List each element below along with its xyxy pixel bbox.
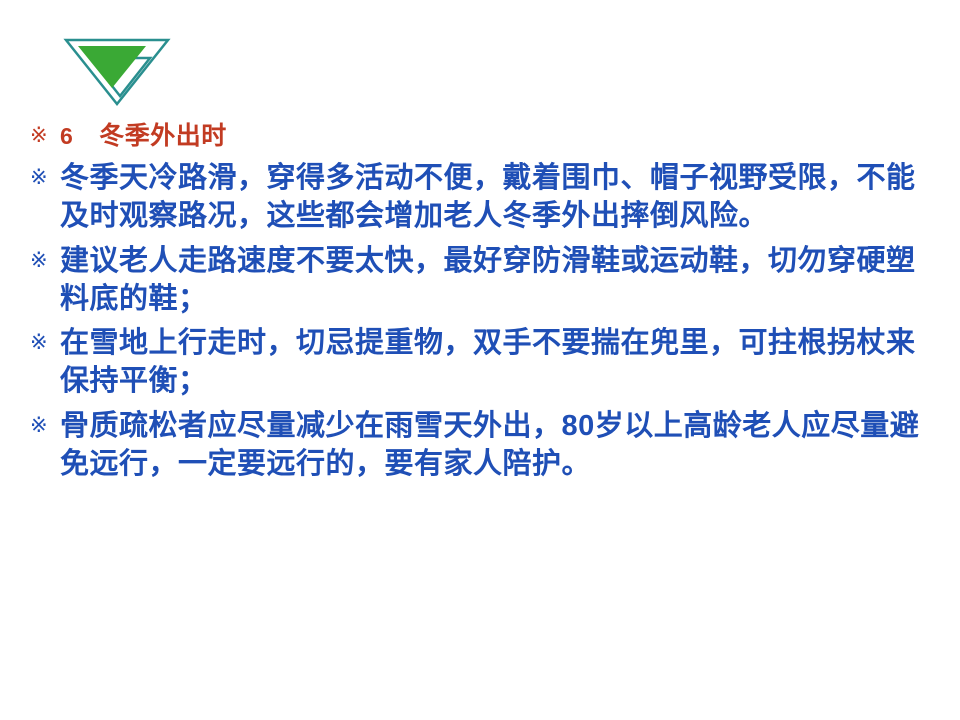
list-item-text: 在雪地上行走时，切忌提重物，双手不要揣在兜里，可拄根拐杖来保持平衡；: [60, 324, 940, 401]
list-item: ※ 在雪地上行走时，切忌提重物，双手不要揣在兜里，可拄根拐杖来保持平衡；: [30, 324, 940, 401]
list-item-text: 冬季天冷路滑，穿得多活动不便，戴着围巾、帽子视野受限，不能及时观察路况，这些都会…: [60, 159, 940, 236]
bullet-marker-icon: ※: [30, 324, 60, 357]
slide-content: ※ 6冬季外出时 ※ 冬季天冷路滑，穿得多活动不便，戴着围巾、帽子视野受限，不能…: [30, 120, 940, 489]
bullet-marker-icon: ※: [30, 159, 60, 192]
list-item: ※ 建议老人走路速度不要太快，最好穿防滑鞋或运动鞋，切勿穿硬塑料底的鞋；: [30, 242, 940, 319]
list-item-title: 6冬季外出时: [60, 120, 940, 153]
slide: ※ 6冬季外出时 ※ 冬季天冷路滑，穿得多活动不便，戴着围巾、帽子视野受限，不能…: [0, 0, 960, 720]
list-item: ※ 冬季天冷路滑，穿得多活动不便，戴着围巾、帽子视野受限，不能及时观察路况，这些…: [30, 159, 940, 236]
triangle-logo: [62, 36, 172, 108]
item-title-text: 冬季外出时: [99, 122, 227, 150]
list-item-text: 骨质疏松者应尽量减少在雨雪天外出，80岁以上高龄老人应尽量避免远行，一定要远行的…: [60, 407, 940, 484]
bullet-marker-icon: ※: [30, 120, 60, 150]
bullet-marker-icon: ※: [30, 407, 60, 440]
item-number: 6: [60, 123, 73, 149]
list-item-text: 建议老人走路速度不要太快，最好穿防滑鞋或运动鞋，切勿穿硬塑料底的鞋；: [60, 242, 940, 319]
bullet-marker-icon: ※: [30, 242, 60, 275]
list-item: ※ 6冬季外出时: [30, 120, 940, 153]
list-item: ※ 骨质疏松者应尽量减少在雨雪天外出，80岁以上高龄老人应尽量避免远行，一定要远…: [30, 407, 940, 484]
